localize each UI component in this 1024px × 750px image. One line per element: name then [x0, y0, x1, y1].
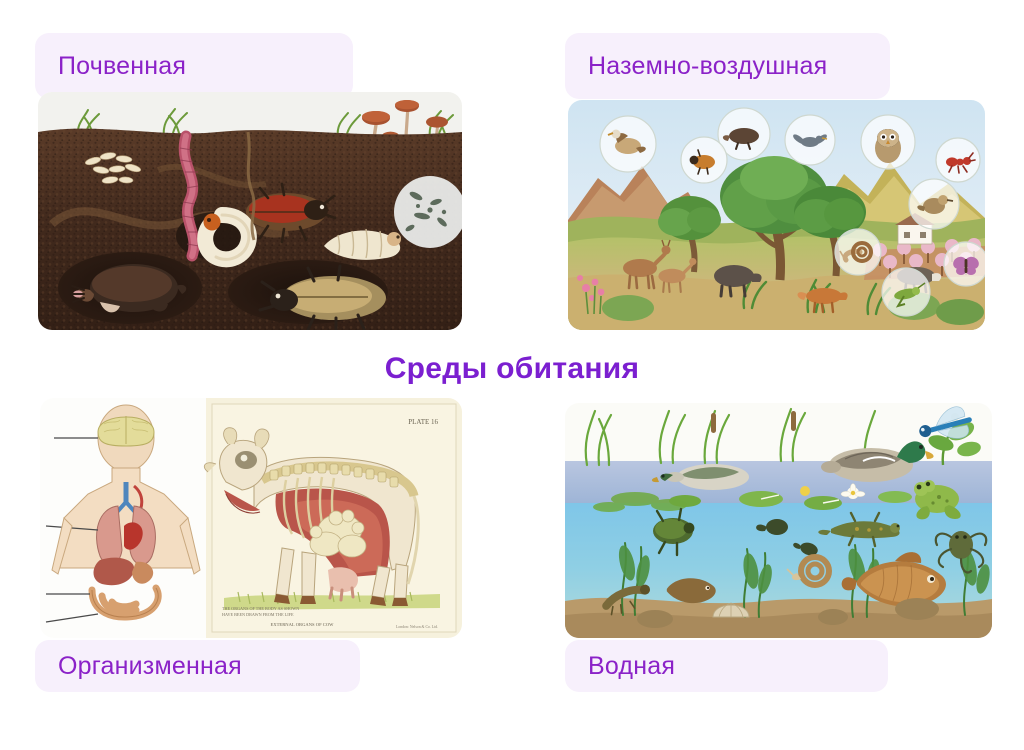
label-card-water: Водная	[565, 640, 888, 692]
water-habitat-svg	[565, 403, 992, 638]
plate-publisher: London: Nelson & Co. Ltd.	[396, 625, 438, 629]
air-bubble-butterfly	[944, 242, 985, 286]
label-soil: Почвенная	[58, 52, 186, 81]
slide-title: Среды обитания	[0, 352, 1024, 386]
air-bubble-eagle	[600, 116, 656, 172]
cow-anatomy-plate: PLATE 16	[204, 404, 456, 632]
organism-habitat-svg: PLATE 16	[40, 398, 462, 638]
air-bubble-ant	[936, 138, 980, 182]
soil-habitat-svg	[38, 92, 462, 330]
label-water: Водная	[588, 652, 675, 681]
air-bubble-bird-flying	[785, 115, 835, 165]
plate-number: PLATE 16	[408, 418, 438, 426]
label-card-air: Наземно-воздушная	[565, 33, 890, 99]
label-air: Наземно-воздушная	[588, 52, 827, 81]
air-habitat-svg	[568, 100, 985, 330]
label-organism: Организменная	[58, 652, 242, 681]
illustration-water-habitat	[565, 403, 992, 638]
label-card-soil: Почвенная	[35, 33, 353, 99]
illustration-soil-habitat	[38, 92, 462, 330]
air-bubble-sparrow	[909, 179, 959, 229]
illustration-air-habitat	[568, 100, 985, 330]
air-bubble-snail	[835, 229, 881, 275]
air-bubble-grasshopper	[882, 268, 930, 316]
plate-side-note: THE ORGANS OF THE BODY AS SHOWN	[222, 606, 299, 611]
air-bubble-owl	[861, 115, 915, 169]
label-card-organism: Организменная	[35, 640, 360, 692]
air-bubble-beetle-ground	[681, 137, 727, 183]
illustration-organism-habitat: PLATE 16	[40, 398, 462, 638]
habitats-slide: Почвенная	[0, 0, 1024, 750]
plate-side-note-2: HAVE BEEN DRAWN FROM THE LIFE	[222, 612, 294, 617]
plate-footer: EXTERNAL ORGANS OF COW	[271, 622, 335, 627]
